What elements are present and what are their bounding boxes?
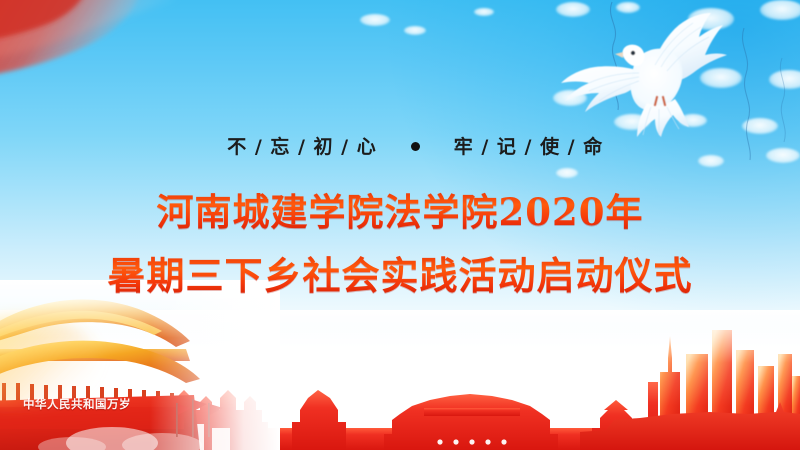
page-title-line2: 暑期三下乡社会实践活动启动仪式 — [0, 245, 800, 300]
tiananmen-banner-text: 中华人民共和国万岁 — [2, 396, 152, 412]
poster-canvas: 中华人民共和国万岁 不 / 忘 / 初 / 心牢 / 记 / 使 / 命 河南城… — [0, 0, 800, 450]
page-title-line1: 河南城建学院法学院2020年 — [0, 182, 800, 236]
slogan-left-text: 不 / 忘 / 初 / 心 — [227, 136, 377, 158]
red-ribbon-icon — [0, 0, 250, 110]
slogan-separator-dot — [411, 142, 420, 151]
slogan-right-text: 牢 / 记 / 使 / 命 — [454, 136, 604, 158]
tiananmen-gate-icon — [0, 285, 254, 450]
city-skyline-right-icon — [580, 390, 800, 450]
slogan-line: 不 / 忘 / 初 / 心牢 / 记 / 使 / 命 — [0, 110, 800, 181]
